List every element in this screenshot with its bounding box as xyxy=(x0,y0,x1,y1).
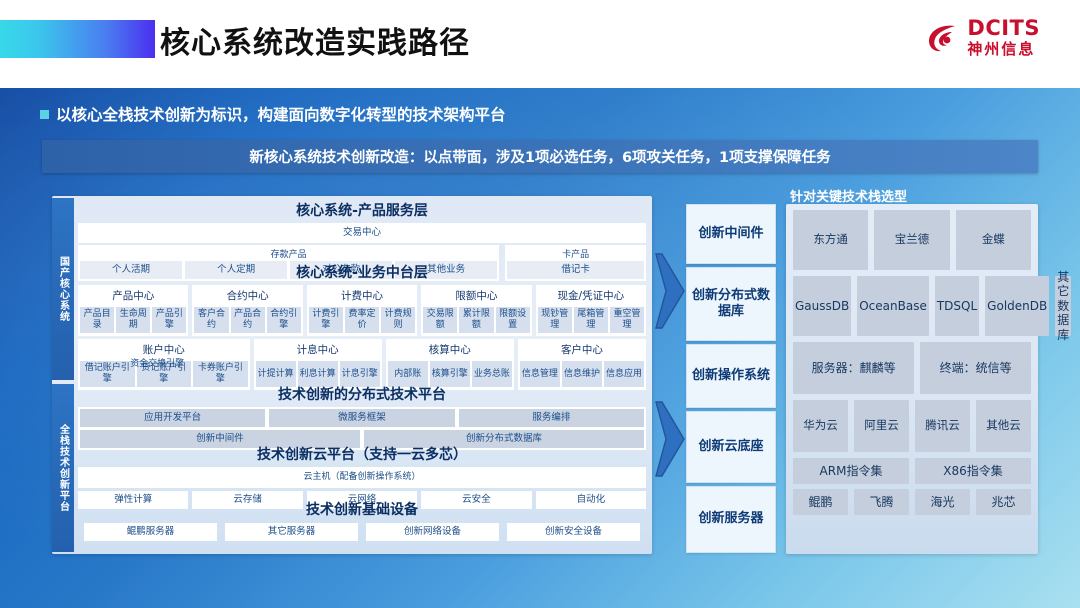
os-cell-terminal[interactable]: 终端：统信等 xyxy=(920,342,1031,394)
database-cell[interactable]: GaussDB xyxy=(793,276,851,336)
business-layer-row-1: 产品中心 产品目录 生命周期 产品引擎 合约中心 客户合约 产品合约 合约引擎 xyxy=(78,285,646,336)
cloud-cell[interactable]: 其他云 xyxy=(976,400,1031,452)
center-head: 客户中心 xyxy=(520,341,644,359)
mid-box-cloud-base[interactable]: 创新云底座 xyxy=(686,411,776,483)
center-cell[interactable]: 尾箱管理 xyxy=(574,307,608,333)
center-cell[interactable]: 客户合约 xyxy=(194,307,228,333)
architecture-diagram: 国产核心系统 全栈技术创新平台 核心系统-产品服务层 交易中心 存款产品 个人活… xyxy=(52,196,652,554)
center-cell[interactable]: 累计限额 xyxy=(459,307,493,333)
header-accent-bar xyxy=(0,20,155,58)
database-cell[interactable]: TDSQL xyxy=(935,276,979,336)
logo-text-cn: 神州信息 xyxy=(967,42,1040,57)
center-cell[interactable]: 计费规则 xyxy=(381,307,415,333)
chip-infra-item[interactable]: 鲲鹏服务器 xyxy=(84,523,217,541)
cloud-platform-title: 技术创新云平台（支持一云多芯） xyxy=(78,446,646,464)
center-cell[interactable]: 卡券账户引擎 xyxy=(193,361,248,387)
center-cell[interactable]: 合约引擎 xyxy=(267,307,301,333)
center-cell[interactable]: 业务总账 xyxy=(472,361,512,387)
row-cloud-vendors: 华为云 阿里云 腾讯云 其他云 xyxy=(793,400,1031,452)
chip-tech-item[interactable]: 服务编排 xyxy=(459,409,644,427)
center-head: 产品中心 xyxy=(80,287,186,305)
center-cell[interactable]: 限额设置 xyxy=(496,307,530,333)
center-cell[interactable]: 重空管理 xyxy=(610,307,644,333)
business-layer-row-2: 账户中心 借记账户引擎 贷记账户引擎 卡券账户引擎 资金交换引擎 计息中心 计提… xyxy=(78,339,646,390)
chip-vendor-cell[interactable]: 海光 xyxy=(915,489,970,515)
center-head: 现金/凭证中心 xyxy=(538,287,644,305)
database-cell[interactable]: GoldenDB xyxy=(985,276,1049,336)
center-cell[interactable]: 现钞管理 xyxy=(538,307,572,333)
center-head: 计息中心 xyxy=(256,341,380,359)
dcits-logo: DCITS 神州信息 xyxy=(925,18,1040,57)
chip-vendor-cell[interactable]: 兆芯 xyxy=(976,489,1031,515)
card-products-label: 卡产品 xyxy=(507,247,644,260)
vendor-cell[interactable]: 金蝶 xyxy=(956,210,1031,270)
cloud-cell[interactable]: 腾讯云 xyxy=(915,400,970,452)
chip-infra-item[interactable]: 创新网络设备 xyxy=(366,523,499,541)
center-card-cash-voucher[interactable]: 现金/凭证中心 现钞管理 尾箱管理 重空管理 xyxy=(536,285,646,336)
center-head: 计费中心 xyxy=(309,287,415,305)
center-cell[interactable]: 交易限额 xyxy=(423,307,457,333)
banner: 新核心系统技术创新改造：以点带面，涉及1项必选任务，6项攻关任务，1项支撑保障任… xyxy=(42,140,1038,173)
row-os-vendors: 服务器：麒麟等 终端：统信等 xyxy=(793,342,1031,394)
arrow-right-upper-icon xyxy=(654,252,688,330)
mid-box-distributed-database[interactable]: 创新分布式数据库 xyxy=(686,267,776,341)
right-column-title: 针对关键技术栈选型 xyxy=(790,186,907,205)
center-cell[interactable]: 信息管理 xyxy=(520,361,560,387)
chip-vendor-cell[interactable]: 飞腾 xyxy=(854,489,909,515)
center-cell[interactable]: 借记账户引擎 xyxy=(80,361,135,387)
center-card-limit[interactable]: 限额中心 交易限额 累计限额 限额设置 xyxy=(421,285,531,336)
business-layer-title: 核心系统-业务中台层 xyxy=(78,264,646,282)
section-infrastructure: 技术创新基础设备 鲲鹏服务器 其它服务器 创新网络设备 创新安全设备 xyxy=(78,501,646,541)
center-cell[interactable]: 产品引擎 xyxy=(152,307,186,333)
infrastructure-title: 技术创新基础设备 xyxy=(78,501,646,519)
tech-stack-selection-panel: 东方通 宝兰德 金蝶 GaussDB OceanBase TDSQL Golde… xyxy=(786,204,1038,554)
section-business-middle-layer: 核心系统-业务中台层 产品中心 产品目录 生命周期 产品引擎 合约中心 客户合约… xyxy=(78,264,646,390)
row-middleware-vendors: 东方通 宝兰德 金蝶 xyxy=(793,210,1031,270)
banner-text: 新核心系统技术创新改造：以点带面，涉及1项必选任务，6项攻关任务，1项支撑保障任… xyxy=(249,146,830,167)
tech-platform-title: 技术创新的分布式技术平台 xyxy=(78,386,646,404)
os-cell-server[interactable]: 服务器：麒麟等 xyxy=(793,342,914,394)
database-cell[interactable]: 其它数据库 xyxy=(1055,276,1071,336)
center-head: 限额中心 xyxy=(423,287,529,305)
center-cell[interactable]: 计息引擎 xyxy=(340,361,380,387)
center-cell[interactable]: 生命周期 xyxy=(116,307,150,333)
page-title: 核心系统改造实践路径 xyxy=(160,18,470,62)
chip-vendor-cell[interactable]: 鲲鹏 xyxy=(793,489,848,515)
chip-cloud-host[interactable]: 云主机（配备创新操作系统） xyxy=(80,469,644,486)
vtab-domestic-core-system: 国产核心系统 xyxy=(52,198,74,380)
center-cell[interactable]: 产品合约 xyxy=(231,307,265,333)
center-cell[interactable]: 产品目录 xyxy=(80,307,114,333)
chip-tech-item[interactable]: 微服务框架 xyxy=(269,409,454,427)
deposit-products-label: 存款产品 xyxy=(80,247,497,260)
row-chip-vendors: 鲲鹏 飞腾 海光 兆芯 xyxy=(793,489,1031,515)
vendor-cell[interactable]: 宝兰德 xyxy=(874,210,949,270)
vtab-fullstack-innovation-platform: 全栈技术创新平台 xyxy=(52,384,74,552)
bullet-square-icon xyxy=(40,110,49,119)
chip-trade-center[interactable]: 交易中心 xyxy=(80,225,644,241)
bullet-heading-text: 以核心全栈技术创新为标识，构建面向数字化转型的技术架构平台 xyxy=(56,103,506,125)
center-card-billing[interactable]: 计费中心 计费引擎 费率定价 计费规则 xyxy=(307,285,417,336)
slide-root: 核心系统改造实践路径 DCITS 神州信息 以核心全栈技术创新为标识，构建面向数… xyxy=(0,0,1080,608)
center-cell[interactable]: 信息应用 xyxy=(604,361,644,387)
center-card-customer[interactable]: 客户中心 信息管理 信息维护 信息应用 xyxy=(518,339,646,390)
cloud-cell[interactable]: 阿里云 xyxy=(854,400,909,452)
center-head: 核算中心 xyxy=(388,341,512,359)
center-cell[interactable]: 费率定价 xyxy=(345,307,379,333)
row-database-vendors: GaussDB OceanBase TDSQL GoldenDB 其它数据库 xyxy=(793,276,1031,336)
section-tech-platform: 技术创新的分布式技术平台 应用开发平台 微服务框架 服务编排 创新中间件 创新分… xyxy=(78,386,646,450)
bullet-heading: 以核心全栈技术创新为标识，构建面向数字化转型的技术架构平台 xyxy=(40,103,506,125)
center-cell[interactable]: 计提计算 xyxy=(256,361,296,387)
center-cell[interactable]: 核算引擎 xyxy=(430,361,470,387)
chip-tech-item[interactable]: 应用开发平台 xyxy=(80,409,265,427)
row-instruction-sets: ARM指令集 X86指令集 xyxy=(793,458,1031,484)
vendor-cell[interactable]: 东方通 xyxy=(793,210,868,270)
arrow-right-lower-icon xyxy=(654,400,688,478)
center-card-interest[interactable]: 计息中心 计提计算 利息计算 计息引擎 xyxy=(254,339,382,390)
center-card-contract[interactable]: 合约中心 客户合约 产品合约 合约引擎 xyxy=(192,285,302,336)
mid-box-middleware[interactable]: 创新中间件 xyxy=(686,204,776,264)
group-server-chips: ARM指令集 X86指令集 鲲鹏 飞腾 海光 兆芯 xyxy=(793,458,1031,515)
center-cell[interactable]: 内部账 xyxy=(388,361,428,387)
center-card-accounting[interactable]: 核算中心 内部账 核算引擎 业务总账 xyxy=(386,339,514,390)
mid-box-server[interactable]: 创新服务器 xyxy=(686,486,776,553)
logo-text-en: DCITS xyxy=(967,18,1040,39)
section-cloud-platform: 技术创新云平台（支持一云多芯） 云主机（配备创新操作系统） 弹性计算 云存储 云… xyxy=(78,446,646,509)
overlay-fund-exchange-engine: 资金交换引擎 xyxy=(130,356,184,369)
center-head: 合约中心 xyxy=(194,287,300,305)
chip-infra-item[interactable]: 创新安全设备 xyxy=(507,523,640,541)
center-cell[interactable]: 计费引擎 xyxy=(309,307,343,333)
center-card-product[interactable]: 产品中心 产品目录 生命周期 产品引擎 xyxy=(78,285,188,336)
chip-infra-item[interactable]: 其它服务器 xyxy=(225,523,358,541)
center-cell[interactable]: 利息计算 xyxy=(298,361,338,387)
instruction-set-cell[interactable]: X86指令集 xyxy=(915,458,1031,484)
mid-box-operating-system[interactable]: 创新操作系统 xyxy=(686,344,776,408)
innovation-target-column: 创新中间件 创新分布式数据库 创新操作系统 创新云底座 创新服务器 xyxy=(686,204,776,556)
dcits-mark-icon xyxy=(925,20,961,56)
cloud-cell[interactable]: 华为云 xyxy=(793,400,848,452)
slide-header: 核心系统改造实践路径 DCITS 神州信息 xyxy=(0,0,1080,88)
product-layer-title: 核心系统-产品服务层 xyxy=(78,202,646,220)
center-cell[interactable]: 信息维护 xyxy=(562,361,602,387)
database-cell[interactable]: OceanBase xyxy=(857,276,929,336)
instruction-set-cell[interactable]: ARM指令集 xyxy=(793,458,909,484)
center-card-account[interactable]: 账户中心 借记账户引擎 贷记账户引擎 卡券账户引擎 资金交换引擎 xyxy=(78,339,250,390)
